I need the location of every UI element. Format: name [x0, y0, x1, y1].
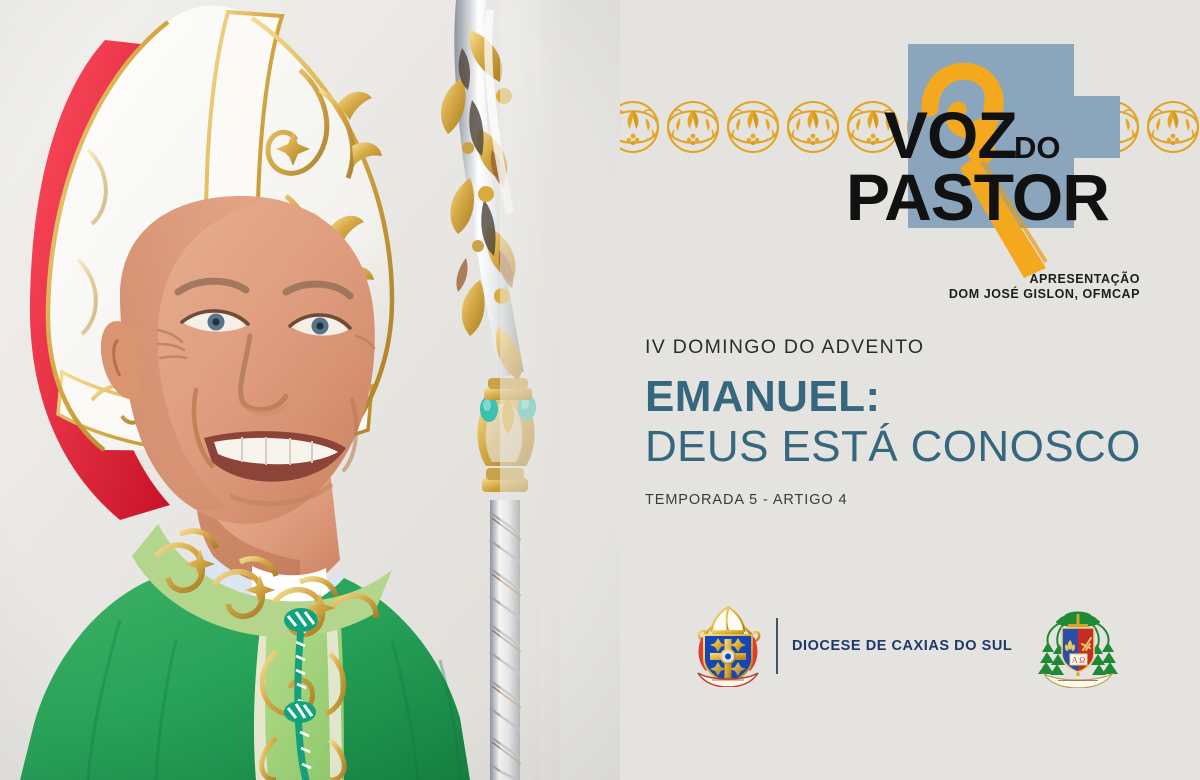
logo-artwork: VOZ DO PASTOR	[840, 28, 1140, 278]
episode-headline: EMANUEL: DEUS ESTÁ CONOSCO	[645, 375, 1165, 470]
liturgical-day-label: IV DOMINGO DO ADVENTO	[645, 336, 1165, 359]
episode-title-block: IV DOMINGO DO ADVENTO EMANUEL: DEUS ESTÁ…	[645, 336, 1165, 508]
presenter-name: DOM JOSÉ GISLON, OFMCAP	[840, 287, 1140, 302]
headline-line-1: EMANUEL:	[645, 375, 1165, 420]
bishop-portrait-photo	[0, 0, 620, 780]
diocese-coat-of-arms-icon	[690, 601, 766, 692]
logo-pastor: PASTOR	[846, 160, 1109, 234]
headline-line-2: DEUS ESTÁ CONOSCO	[645, 425, 1165, 470]
footer-divider	[776, 618, 778, 674]
footer-logos: DIOCESE DE CAXIAS DO SUL	[690, 596, 1090, 696]
voz-do-pastor-logo: VOZ DO PASTOR APRESENTAÇÃO DOM JOSÉ GISL…	[840, 28, 1140, 303]
season-episode-label: TEMPORADA 5 - ARTIGO 4	[645, 492, 1165, 508]
bishop-coat-of-arms-icon: A Ω	[1034, 600, 1122, 693]
poster-canvas: VOZ DO PASTOR APRESENTAÇÃO DOM JOSÉ GISL…	[0, 0, 1200, 780]
diocese-name-label: DIOCESE DE CAXIAS DO SUL	[792, 638, 1012, 654]
svg-text:A Ω: A Ω	[1072, 655, 1085, 664]
